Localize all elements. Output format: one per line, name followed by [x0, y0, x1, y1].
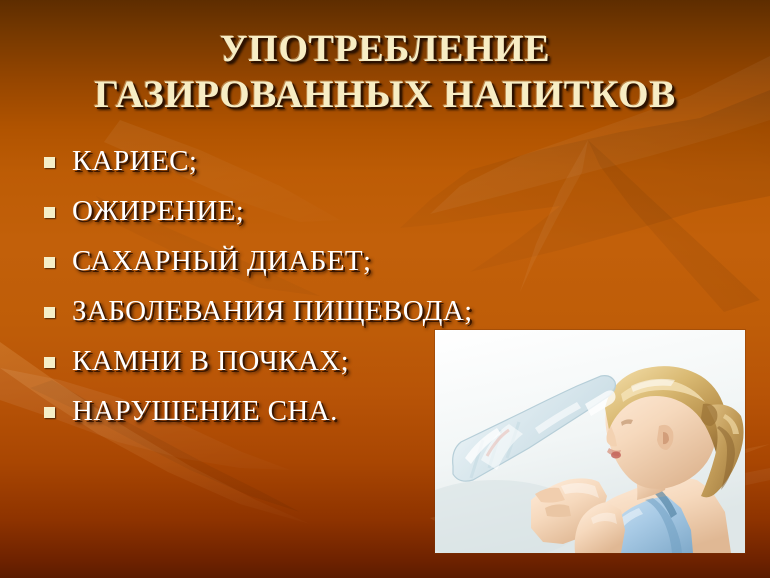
- square-bullet-icon: [44, 357, 55, 368]
- list-item-label: САХАРНЫЙ ДИАБЕТ;: [72, 243, 704, 279]
- square-bullet-icon: [44, 257, 55, 268]
- square-bullet-icon: [44, 407, 55, 418]
- list-item: КАРИЕС;: [44, 143, 704, 193]
- square-bullet-icon: [44, 157, 55, 168]
- list-item-label: ОЖИРЕНИЕ;: [72, 193, 704, 229]
- girl-drinking-water-photo: [435, 330, 745, 553]
- square-bullet-icon: [44, 307, 55, 318]
- square-bullet-icon: [44, 207, 55, 218]
- slide-title: УПОТРЕБЛЕНИЕ ГАЗИРОВАННЫХ НАПИТКОВ: [0, 26, 770, 118]
- list-item-label: КАРИЕС;: [72, 143, 704, 179]
- list-item-label: ЗАБОЛЕВАНИЯ ПИЩЕВОДА;: [72, 293, 704, 329]
- presentation-slide: УПОТРЕБЛЕНИЕ ГАЗИРОВАННЫХ НАПИТКОВ КАРИЕ…: [0, 0, 770, 578]
- title-line-2: ГАЗИРОВАННЫХ НАПИТКОВ: [0, 72, 770, 118]
- list-item: САХАРНЫЙ ДИАБЕТ;: [44, 243, 704, 293]
- title-line-1: УПОТРЕБЛЕНИЕ: [0, 26, 770, 72]
- list-item: ОЖИРЕНИЕ;: [44, 193, 704, 243]
